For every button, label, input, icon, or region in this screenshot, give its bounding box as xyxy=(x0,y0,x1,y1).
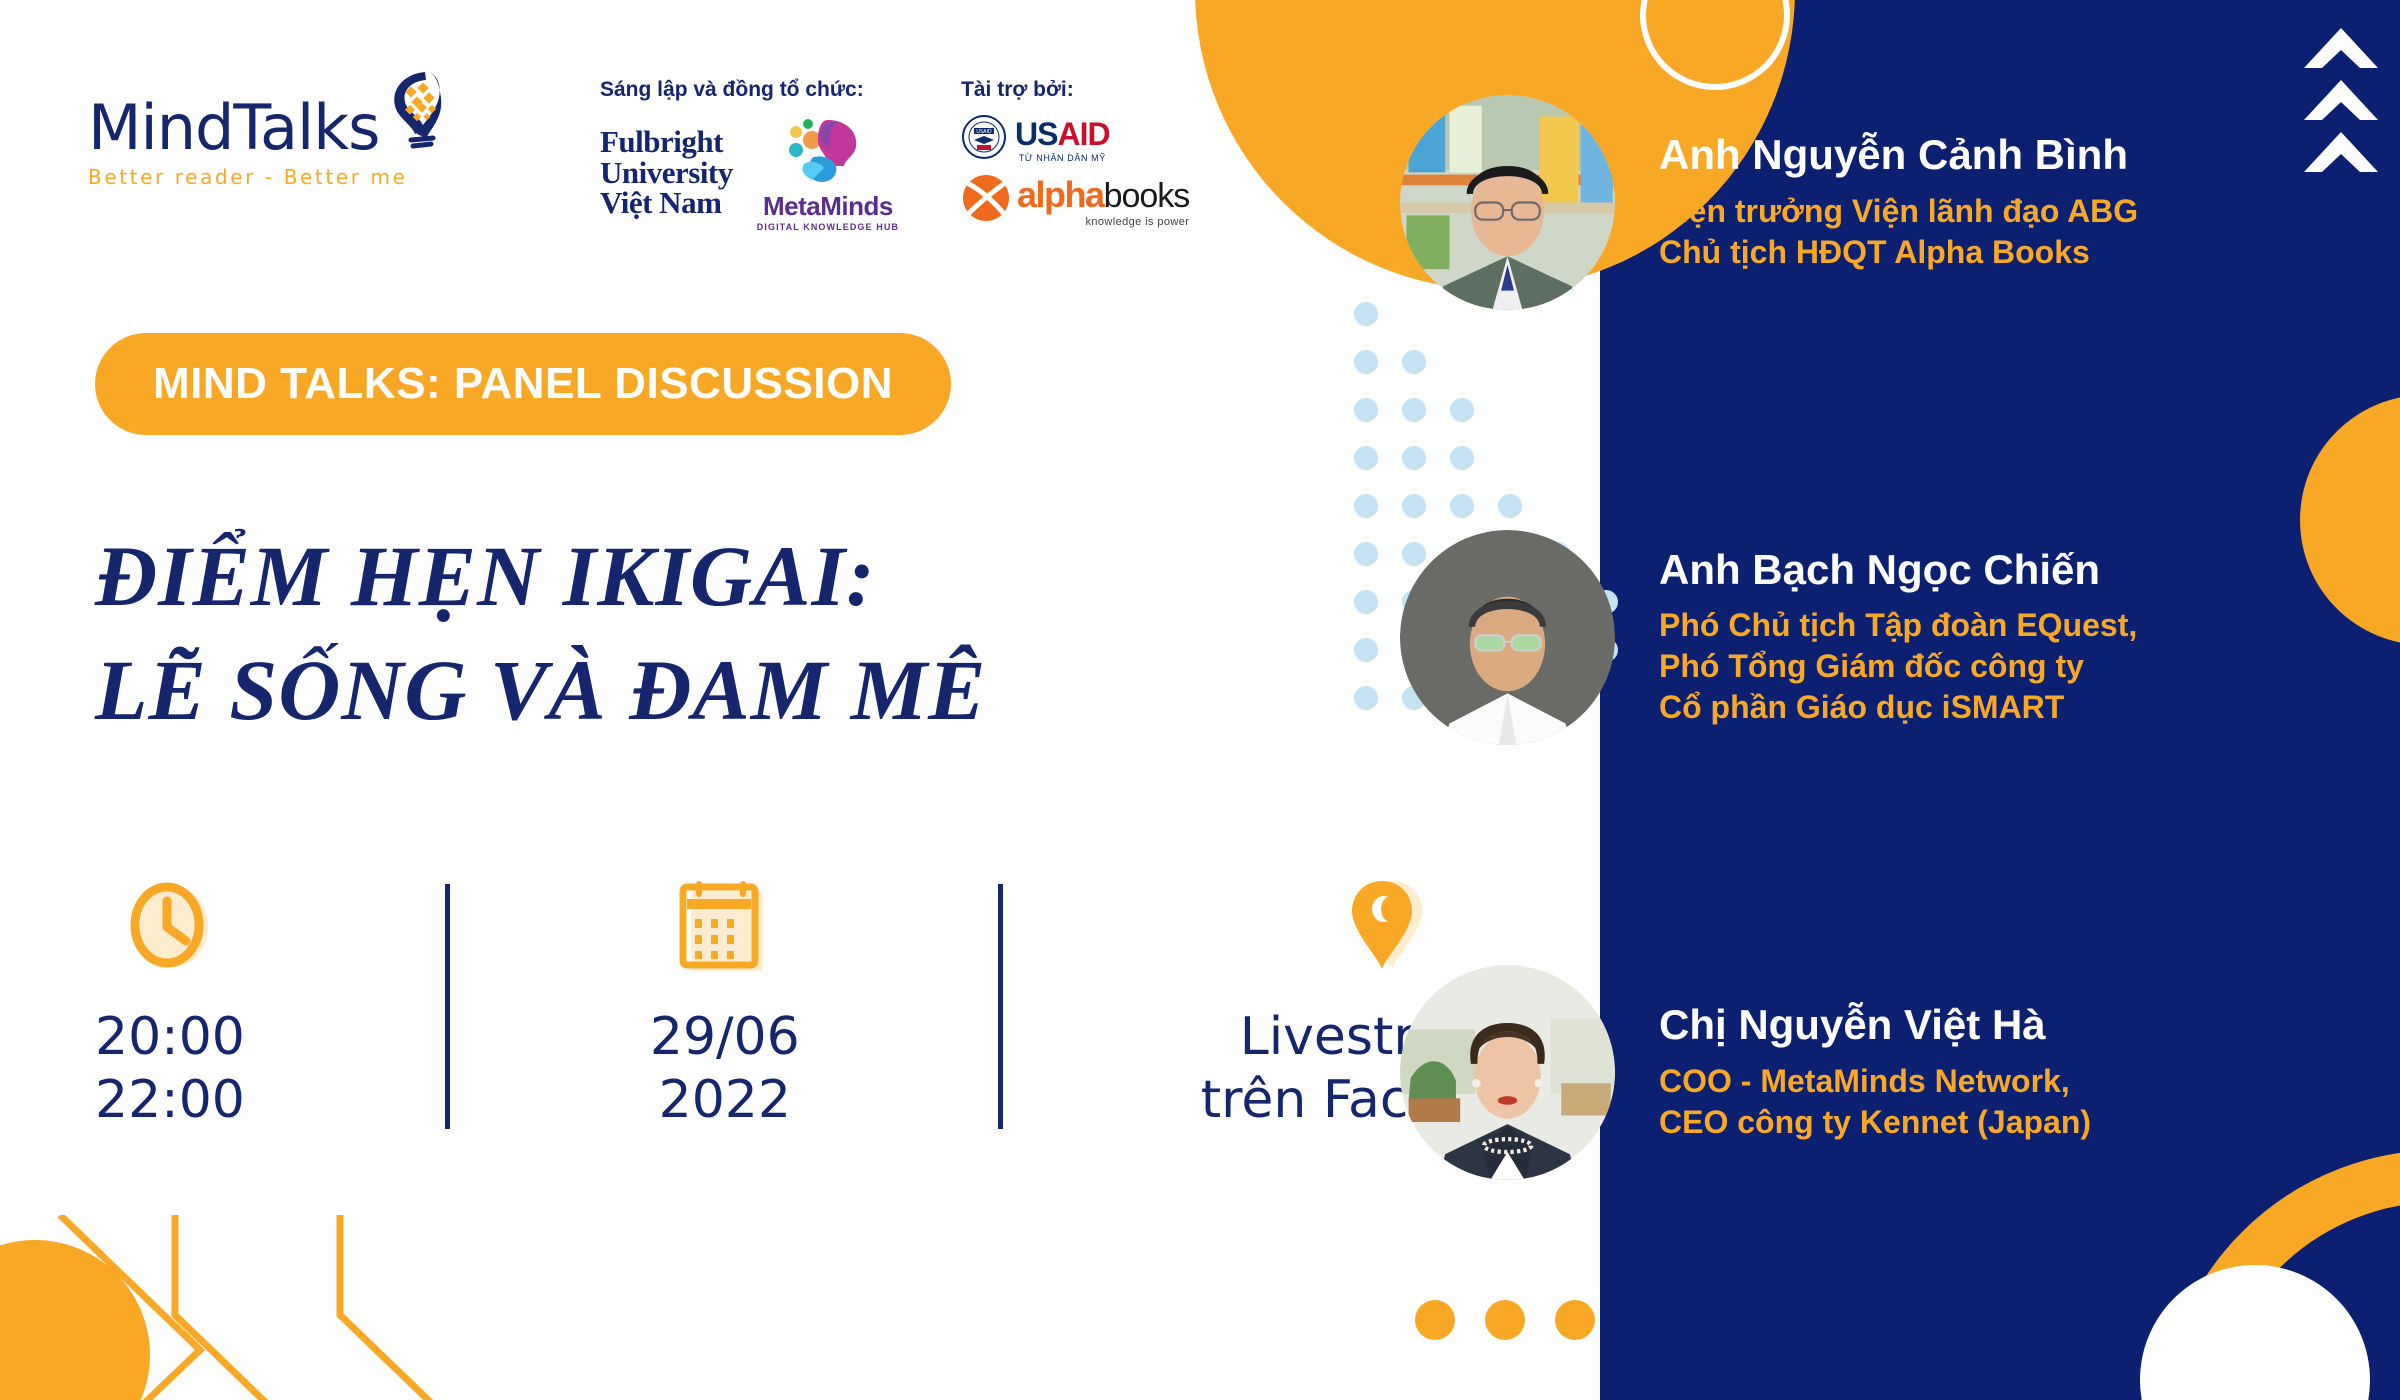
divider xyxy=(998,884,1003,1129)
divider xyxy=(445,884,450,1129)
event-type-badge: MIND TALKS: PANEL DISCUSSION xyxy=(95,333,951,435)
logo-tagline: Better reader - Better me xyxy=(88,165,508,189)
book-lightbulb-icon xyxy=(381,68,443,157)
speaker-name: Anh Nguyễn Cảnh Bình xyxy=(1659,132,2138,178)
usaid-seal-icon: USAID xyxy=(961,114,1007,165)
logo-wordmark: MindTalks xyxy=(88,97,379,159)
location-pin-icon xyxy=(1338,870,1430,980)
speaker-card: Anh Bạch Ngọc Chiến Phó Chủ tịch Tập đoà… xyxy=(1400,530,2137,745)
chevron-up-icon xyxy=(2304,28,2378,188)
speaker-photo-bach-ngoc-chien xyxy=(1400,530,1615,745)
usaid-subtitle: TỪ NHÂN DÂN MỸ xyxy=(1015,153,1110,163)
organizer-label: Sáng lập và đồng tổ chức: xyxy=(600,78,899,102)
event-date-text: 29/06 2022 xyxy=(650,1006,800,1133)
partner-logos: Sáng lập và đồng tổ chức: Fulbright Univ… xyxy=(600,78,1189,232)
speaker-info: Chị Nguyễn Việt Hà COO - MetaMinds Netwo… xyxy=(1659,1002,2091,1142)
speaker-roles: Viện trưởng Viện lãnh đạo ABG Chủ tịch H… xyxy=(1659,191,2138,273)
speaker-name: Chị Nguyễn Việt Hà xyxy=(1659,1002,2091,1048)
title-line-1: ĐIỂM HẸN IKIGAI: xyxy=(95,520,987,634)
alphabooks-suffix: books xyxy=(1104,177,1190,215)
sponsor-label: Tài trợ bởi: xyxy=(961,78,1189,102)
usaid-suffix: AID xyxy=(1057,116,1109,152)
event-date: 29/06 2022 xyxy=(650,870,800,1133)
event-time-text: 20:00 22:00 xyxy=(95,1006,245,1133)
page-title: ĐIỂM HẸN IKIGAI: LẼ SỐNG VÀ ĐAM MÊ xyxy=(95,520,987,747)
speaker-card: Anh Nguyễn Cảnh Bình Viện trưởng Viện lã… xyxy=(1400,95,2138,310)
organizer-group: Sáng lập và đồng tổ chức: Fulbright Univ… xyxy=(600,78,899,232)
metaminds-subtitle: DIGITAL KNOWLEDGE HUB xyxy=(757,222,899,232)
svg-text:USAID: USAID xyxy=(976,129,992,135)
alphabooks-subtitle: knowledge is power xyxy=(1017,216,1189,228)
speaker-name: Anh Bạch Ngọc Chiến xyxy=(1659,547,2137,593)
usaid-prefix: US xyxy=(1015,116,1057,152)
metaminds-head-icon xyxy=(782,173,874,190)
event-info-strip: 20:00 22:00 xyxy=(95,870,1567,1133)
alphabooks-logo: alphabooks knowledge is power xyxy=(961,173,1189,228)
dot xyxy=(1415,1300,1455,1340)
speaker-info: Anh Bạch Ngọc Chiến Phó Chủ tịch Tập đoà… xyxy=(1659,547,2137,728)
sponsor-group: Tài trợ bởi: USAID xyxy=(961,78,1189,228)
title-line-2: LẼ SỐNG VÀ ĐAM MÊ xyxy=(95,634,987,748)
event-time: 20:00 22:00 xyxy=(95,870,245,1133)
event-poster: MindTalks xyxy=(0,0,2400,1400)
chevron-right-icon xyxy=(0,1215,520,1400)
speaker-info: Anh Nguyễn Cảnh Bình Viện trưởng Viện lã… xyxy=(1659,132,2138,272)
clock-icon xyxy=(124,870,216,980)
alphabooks-mark-icon xyxy=(961,173,1011,228)
usaid-logo: USAID USAID TỪ NHÂN DÂN MỸ xyxy=(961,114,1189,165)
dot xyxy=(1485,1300,1525,1340)
metaminds-logo: MetaMinds DIGITAL KNOWLEDGE HUB xyxy=(757,114,899,232)
event-type-label: MIND TALKS: PANEL DISCUSSION xyxy=(153,359,893,408)
calendar-icon xyxy=(675,870,775,980)
three-dots-decoration xyxy=(1415,1300,1595,1340)
speaker-photo-nguyen-viet-ha xyxy=(1400,965,1615,1180)
speaker-card: Chị Nguyễn Việt Hà COO - MetaMinds Netwo… xyxy=(1400,965,2091,1180)
metaminds-wordmark: MetaMinds xyxy=(757,191,899,222)
speaker-roles: Phó Chủ tịch Tập đoàn EQuest, Phó Tổng G… xyxy=(1659,605,2137,728)
fulbright-logo: Fulbright University Việt Nam xyxy=(600,127,733,218)
dot xyxy=(1555,1300,1595,1340)
speaker-roles: COO - MetaMinds Network, CEO công ty Ken… xyxy=(1659,1061,2091,1143)
alphabooks-prefix: alpha xyxy=(1017,174,1104,215)
mindtalks-logo: MindTalks xyxy=(88,68,508,189)
poster-header: MindTalks xyxy=(0,0,1600,230)
speaker-photo-nguyen-canh-binh xyxy=(1400,95,1615,310)
